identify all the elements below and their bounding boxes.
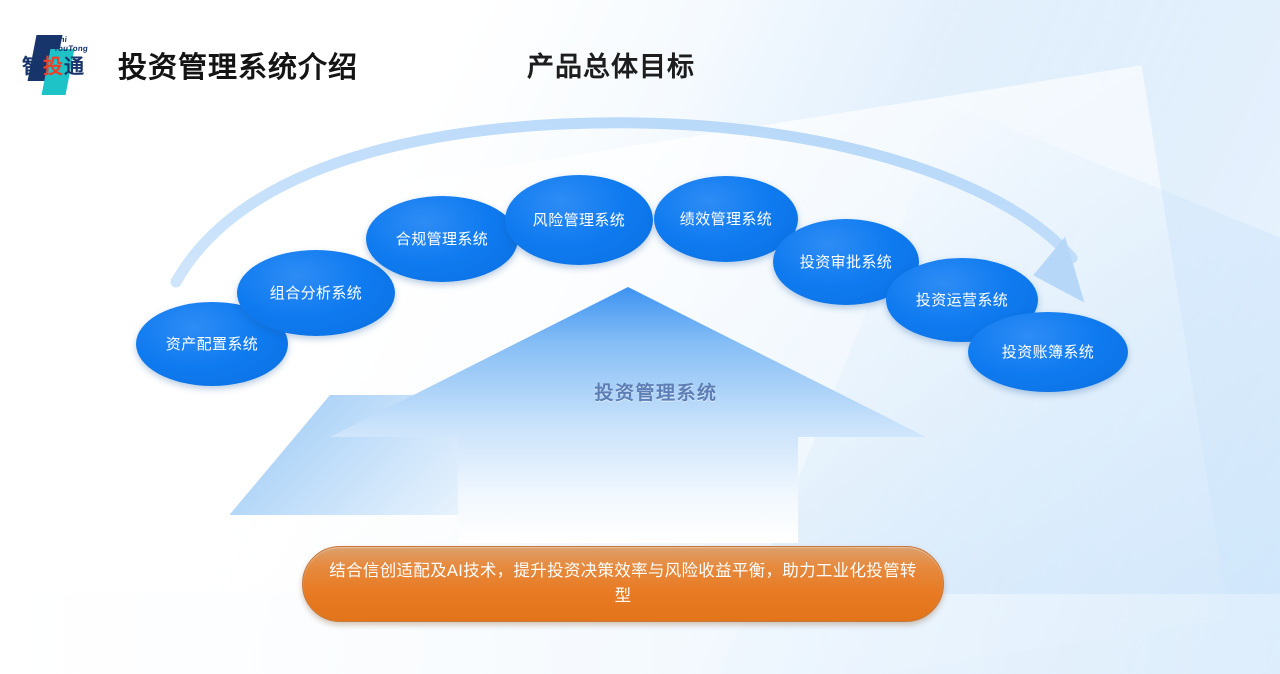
page-subtitle: 产品总体目标 [527, 45, 695, 84]
system-node-label: 投资审批系统 [783, 252, 909, 273]
logo-pinyin-text: Zhi TouTong [53, 36, 89, 53]
system-node[interactable]: 投资账簿系统 [968, 312, 1128, 392]
logo-char-3: 通 [64, 56, 85, 78]
system-node-label: 投资账簿系统 [978, 342, 1118, 363]
center-arrow-label: 投资管理系统 [556, 378, 756, 405]
logo-char-1: 智 [22, 56, 43, 78]
slide-canvas: Zhi TouTong 智投通 投资管理系统介绍 产品总体目标 [0, 0, 1280, 674]
system-node-label: 组合分析系统 [247, 283, 385, 304]
arrow-polygon [330, 287, 926, 543]
summary-banner-text: 结合信创适配及AI技术，提升投资决策效率与风险收益平衡，助力工业化投管转型 [325, 559, 921, 609]
system-node[interactable]: 合规管理系统 [366, 196, 518, 282]
system-node-label: 资产配置系统 [146, 334, 278, 355]
system-node[interactable]: 风险管理系统 [505, 175, 653, 265]
system-node-label: 风险管理系统 [515, 210, 643, 231]
slide-header: Zhi TouTong 智投通 投资管理系统介绍 产品总体目标 [0, 0, 1280, 108]
background-band-wedge [229, 395, 630, 515]
arc-arrowhead [1033, 232, 1107, 302]
system-node[interactable]: 组合分析系统 [237, 250, 395, 336]
logo-char-2: 投 [43, 56, 64, 78]
upward-arrow-shape [328, 285, 928, 545]
system-node-label: 合规管理系统 [376, 229, 508, 250]
logo-chinese-text: 智投通 [22, 57, 85, 77]
page-title: 投资管理系统介绍 [118, 44, 358, 86]
summary-banner: 结合信创适配及AI技术，提升投资决策效率与风险收益平衡，助力工业化投管转型 [302, 546, 944, 622]
brand-logo: Zhi TouTong 智投通 [18, 33, 96, 95]
system-node-label: 投资运营系统 [896, 290, 1028, 311]
system-node-label: 绩效管理系统 [664, 209, 788, 230]
